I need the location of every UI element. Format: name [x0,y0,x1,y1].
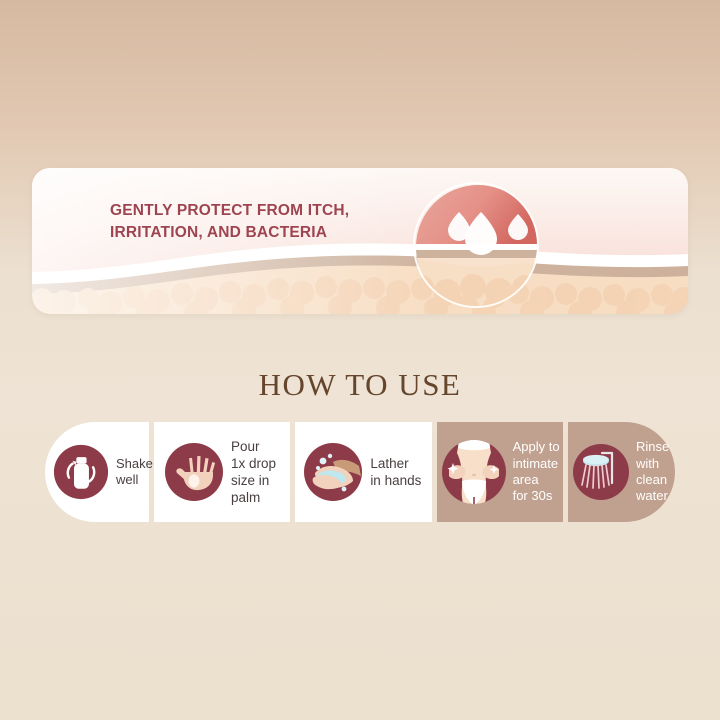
lather-hands-icon [303,442,363,502]
step-line-2: well [116,472,153,488]
step-line-1: Apply to [513,439,560,455]
step-label: Lather in hands [363,455,421,489]
step-line-4: for 30s [513,488,560,504]
step-card-pour-drop[interactable]: Pour 1x drop size in palm [154,422,290,522]
step-label: Shake well [109,456,153,489]
step-line-3: size in [231,472,276,489]
step-card-apply-intimate-area[interactable]: Apply to intimate area for 30s [437,422,563,522]
step-card-rinse-clean-water[interactable]: Rinse with clean water [568,422,675,522]
intimate-area-icon [441,439,507,505]
step-line-2: 1x drop [231,455,276,472]
step-line-1: Rinse [636,439,669,455]
hero-title-line-2: IRRITATION, AND BACTERIA [110,222,440,244]
skin-layers-droplets-icon [415,184,539,308]
step-line-3: area [513,472,560,488]
magnifier-circle [413,182,539,308]
step-line-3: clean [636,472,669,488]
step-line-2: with [636,456,669,472]
step-label: Pour 1x drop size in palm [224,438,276,506]
shake-bottle-icon [53,444,109,500]
steps-row: Shake well Pour 1x drop size in palm [45,422,675,522]
step-line-1: Shake [116,456,153,472]
palm-drop-icon [164,442,224,502]
shower-rinse-icon [572,443,630,501]
hero-banner: GENTLY PROTECT FROM ITCH, IRRITATION, AN… [32,168,688,314]
step-card-shake-well[interactable]: Shake well [45,422,149,522]
step-card-lather-hands[interactable]: Lather in hands [295,422,431,522]
hero-title: GENTLY PROTECT FROM ITCH, IRRITATION, AN… [110,200,440,244]
step-line-1: Pour [231,438,276,455]
step-line-2: intimate [513,456,560,472]
hero-title-line-1: GENTLY PROTECT FROM ITCH, [110,200,440,222]
step-line-1: Lather [370,455,421,472]
step-line-4: palm [231,489,276,506]
step-line-4: water [636,488,669,504]
how-to-use-heading: HOW TO USE [0,367,720,403]
step-label: Rinse with clean water [630,439,669,505]
step-line-2: in hands [370,472,421,489]
step-label: Apply to intimate area for 30s [507,439,560,505]
